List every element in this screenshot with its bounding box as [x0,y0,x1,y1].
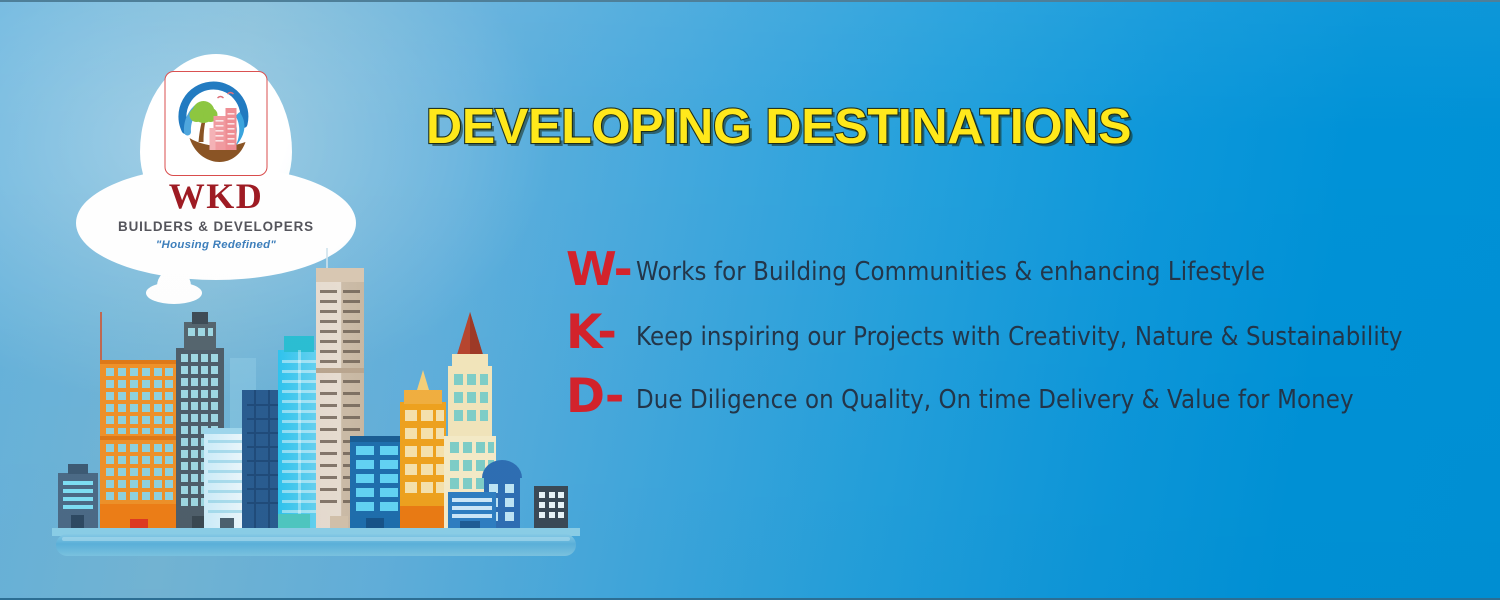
list-item: K- Keep inspiring our Projects with Crea… [566,298,1496,362]
list-item: D- Due Diligence on Quality, On time Del… [566,362,1496,426]
logo-brand: WKD [76,178,356,214]
tagline-text: Keep inspiring our Projects with Creativ… [636,323,1403,351]
building-blue-office [350,436,404,530]
building-darkgray-right [534,486,568,530]
ground-platform [52,528,580,556]
building-amber-spire [400,370,446,530]
tagline-text: Due Diligence on Quality, On time Delive… [636,386,1354,414]
banner: WKD BUILDERS & DEVELOPERS "Housing Redef… [0,0,1500,600]
tagline-text: Works for Building Communities & enhanci… [636,258,1265,286]
logo-subtitle: BUILDERS & DEVELOPERS [76,220,356,233]
page-title: DEVELOPING DESTINATIONS [426,103,1131,152]
building-lightblue-low [448,492,496,530]
cloud-shape [146,269,202,304]
tree-buildings-wave-emblem [165,71,268,176]
list-item: W- Works for Building Communities & enha… [566,234,1496,298]
city-skyline-illustration [52,240,580,570]
building-orange-tall [100,360,176,530]
building-navy-small [58,464,98,530]
tagline-list: W- Works for Building Communities & enha… [566,234,1496,426]
